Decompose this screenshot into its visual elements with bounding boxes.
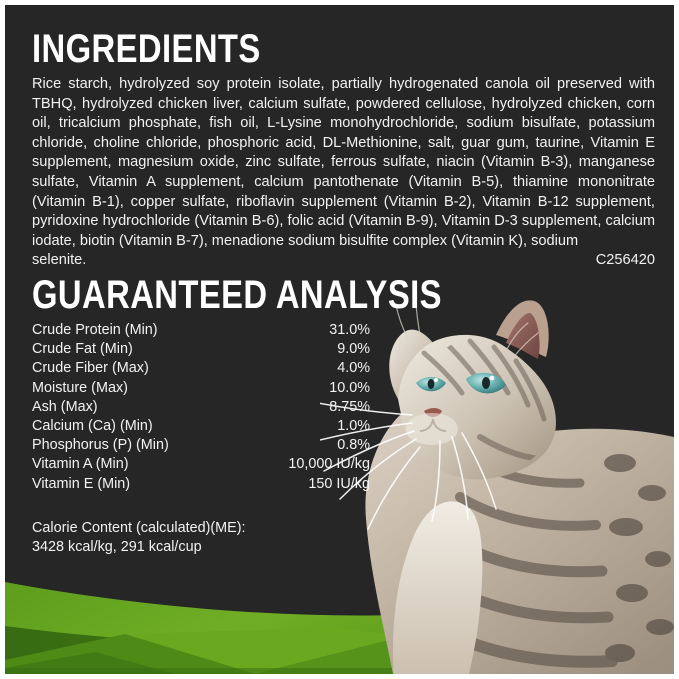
calorie-content-block: Calorie Content (calculated)(ME): 3428 k…	[32, 519, 392, 558]
ingredients-last-line: selenite. C256420	[32, 251, 655, 271]
nutrient-label: Crude Protein (Min)	[32, 321, 158, 340]
label-text-content: INGREDIENTS Rice starch, hydrolyzed soy …	[5, 5, 674, 674]
table-row: Crude Fiber (Max) 4.0%	[32, 359, 370, 378]
nutrient-value: 31.0%	[329, 321, 370, 340]
guaranteed-analysis-table: Crude Protein (Min) 31.0% Crude Fat (Min…	[32, 321, 370, 494]
table-row: Vitamin E (Min) 150 IU/kg	[32, 475, 370, 494]
table-row: Crude Protein (Min) 31.0%	[32, 321, 370, 340]
nutrient-label: Moisture (Max)	[32, 379, 128, 398]
table-row: Phosphorus (P) (Min) 0.8%	[32, 436, 370, 455]
table-row: Vitamin A (Min) 10,000 IU/kg	[32, 455, 370, 474]
nutrient-value: 10.0%	[329, 379, 370, 398]
nutrient-value: 0.8%	[337, 436, 370, 455]
ingredients-body-text: Rice starch, hydrolyzed soy protein isol…	[32, 76, 655, 249]
calorie-content-label: Calorie Content (calculated)(ME):	[32, 519, 392, 538]
nutrient-value: 9.0%	[337, 340, 370, 359]
nutrient-value: 1.0%	[337, 417, 370, 436]
dark-content-panel: INGREDIENTS Rice starch, hydrolyzed soy …	[5, 5, 674, 674]
guaranteed-analysis-heading: GUARANTEED ANALYSIS	[32, 273, 442, 317]
nutrient-label: Phosphorus (P) (Min)	[32, 436, 169, 455]
product-code: C256420	[596, 251, 655, 271]
calorie-content-value: 3428 kcal/kg, 291 kcal/cup	[32, 538, 392, 557]
nutrient-value: 10,000 IU/kg	[288, 455, 370, 474]
nutrient-value: 150 IU/kg	[308, 475, 370, 494]
ingredients-heading: INGREDIENTS	[32, 27, 261, 71]
nutrient-label: Ash (Max)	[32, 398, 98, 417]
nutrient-label: Vitamin A (Min)	[32, 455, 129, 474]
nutrient-label: Calcium (Ca) (Min)	[32, 417, 153, 436]
nutrient-value: 4.0%	[337, 359, 370, 378]
nutrient-label: Crude Fat (Min)	[32, 340, 133, 359]
table-row: Moisture (Max) 10.0%	[32, 379, 370, 398]
table-row: Calcium (Ca) (Min) 1.0%	[32, 417, 370, 436]
nutrient-label: Vitamin E (Min)	[32, 475, 130, 494]
ingredients-body: Rice starch, hydrolyzed soy protein isol…	[32, 75, 655, 271]
nutrient-value: 8.75%	[329, 398, 370, 417]
table-row: Crude Fat (Min) 9.0%	[32, 340, 370, 359]
nutrient-label: Crude Fiber (Max)	[32, 359, 149, 378]
pet-food-label-panel: INGREDIENTS Rice starch, hydrolyzed soy …	[0, 0, 679, 679]
table-row: Ash (Max) 8.75%	[32, 398, 370, 417]
ingredients-last-word: selenite.	[32, 251, 86, 271]
